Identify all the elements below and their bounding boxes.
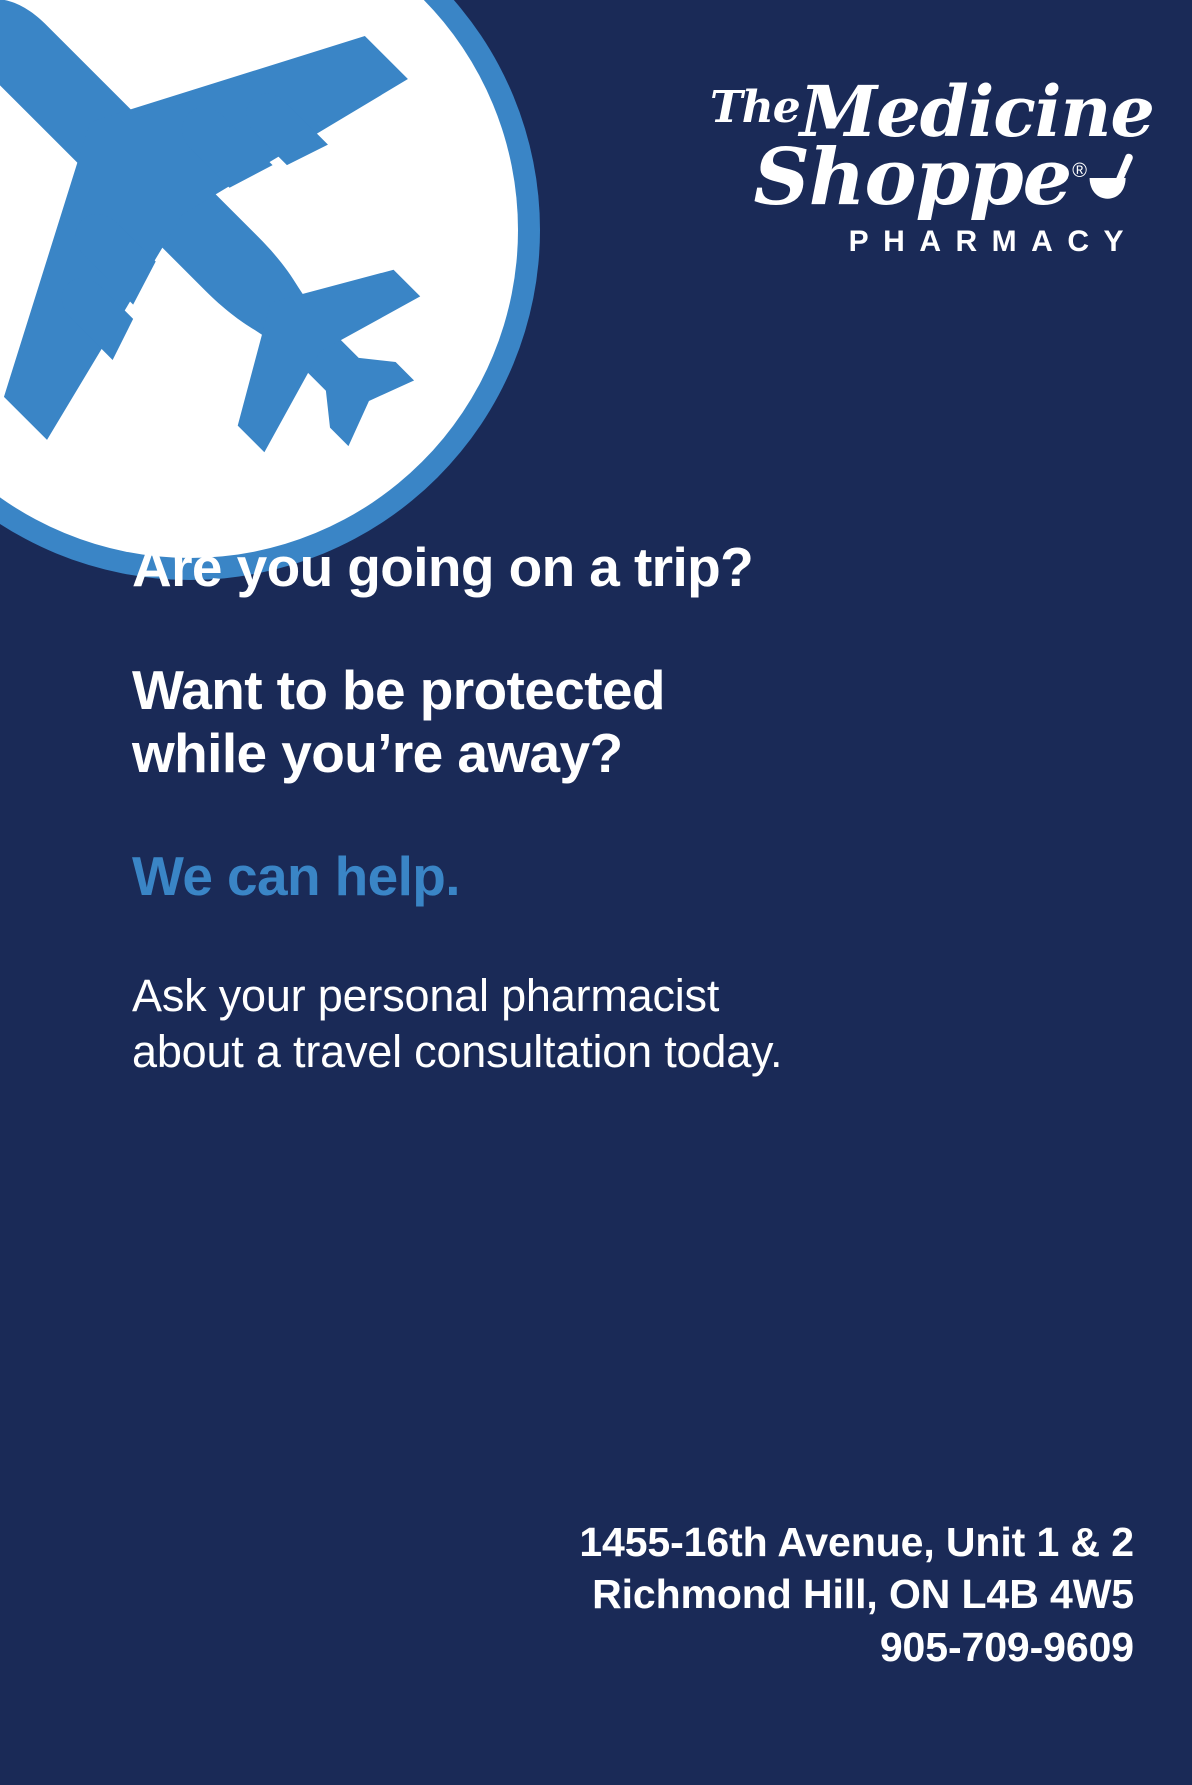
medicine-shoppe-logo: TheMedicine Shoppe® PHARMACY: [710, 78, 1140, 259]
address-city-province-postal: Richmond Hill, ON L4B 4W5: [579, 1568, 1134, 1620]
logo-word-the: The: [710, 82, 800, 133]
registered-trademark-symbol: ®: [1072, 160, 1086, 182]
body-copy-line-2: about a travel consultation today.: [132, 1024, 932, 1080]
headline-protected-line-2: while you’re away?: [132, 722, 832, 785]
logo-tagline-pharmacy: PHARMACY: [710, 225, 1140, 259]
headline-protected-line-1: Want to be protected: [132, 659, 832, 722]
phone-number[interactable]: 905-709-9609: [579, 1621, 1134, 1673]
travel-consultation-poster: TheMedicine Shoppe® PHARMACY Are you goi…: [0, 0, 1192, 1785]
logo-word-shoppe: Shoppe: [753, 132, 1071, 223]
poster-content: Are you going on a trip? Want to be prot…: [132, 538, 1112, 1080]
headline-we-can-help: We can help.: [132, 847, 1112, 906]
store-address-block: 1455-16th Avenue, Unit 1 & 2 Richmond Hi…: [579, 1516, 1134, 1673]
body-copy: Ask your personal pharmacist about a tra…: [132, 968, 932, 1080]
body-copy-line-1: Ask your personal pharmacist: [132, 968, 932, 1024]
logo-line-two: Shoppe®: [710, 141, 1140, 214]
headline-trip-question: Are you going on a trip?: [132, 538, 1112, 596]
airplane-icon: [0, 0, 458, 490]
mortar-and-pestle-icon: [1086, 151, 1140, 205]
airplane-badge: [0, 0, 540, 580]
address-street: 1455-16th Avenue, Unit 1 & 2: [579, 1516, 1134, 1568]
headline-protected-question: Want to be protected while you’re away?: [132, 659, 832, 784]
